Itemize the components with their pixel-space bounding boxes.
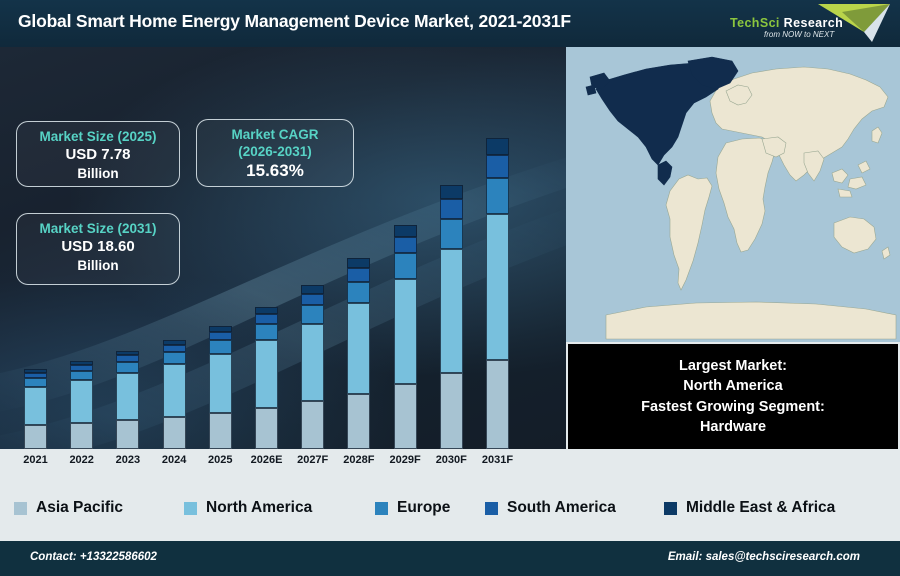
x-axis-label-2028F: 2028F [336,454,382,466]
bar-segment-middle-east-africa[interactable] [255,307,278,314]
bar-2023[interactable] [116,351,139,449]
x-axis-label-2021: 2021 [13,454,59,466]
bar-2024[interactable] [163,340,186,449]
bar-segment-south-america[interactable] [486,155,509,178]
legend-item-south-america[interactable]: South America [485,499,616,517]
bar-segment-middle-east-africa[interactable] [347,258,370,268]
footer-bar: Contact: +13322586602 Email: sales@techs… [0,541,900,576]
legend-swatch-icon [375,502,388,515]
bar-segment-europe[interactable] [163,352,186,364]
bar-segment-north-america[interactable] [255,340,278,408]
legend-label: South America [507,499,616,517]
legend-item-asia-pacific[interactable]: Asia Pacific [14,499,123,517]
bar-segment-asia-pacific[interactable] [301,401,324,449]
bar-2026E[interactable] [255,307,278,449]
bar-segment-south-america[interactable] [440,199,463,219]
bar-segment-asia-pacific[interactable] [70,423,93,449]
bar-segment-europe[interactable] [394,253,417,278]
bar-segment-north-america[interactable] [24,387,47,426]
bar-segment-asia-pacific[interactable] [347,394,370,449]
bar-segment-europe[interactable] [301,305,324,323]
page-title: Global Smart Home Energy Management Devi… [18,11,571,32]
legend-item-north-america[interactable]: North America [184,499,312,517]
legend-swatch-icon [664,502,677,515]
legend-swatch-icon [184,502,197,515]
techsci-logo: TechSci Research from NOW to NEXT [722,2,892,45]
fastest-segment-label: Fastest Growing Segment: [641,397,825,418]
legend-label: North America [206,499,312,517]
bar-segment-north-america[interactable] [163,364,186,416]
bar-segment-asia-pacific[interactable] [116,420,139,449]
bar-segment-north-america[interactable] [440,249,463,373]
bar-segment-asia-pacific[interactable] [163,417,186,449]
bar-segment-asia-pacific[interactable] [24,425,47,449]
bar-segment-asia-pacific[interactable] [486,360,509,449]
x-axis-label-2027F: 2027F [290,454,336,466]
bar-segment-north-america[interactable] [394,279,417,385]
bar-2029F[interactable] [394,225,417,449]
bar-segment-europe[interactable] [209,340,232,354]
bar-2021[interactable] [24,369,47,449]
logo-tagline: from NOW to NEXT [764,30,834,39]
world-map-icon [566,47,900,342]
bar-segment-asia-pacific[interactable] [209,413,232,449]
header-bar: Global Smart Home Energy Management Devi… [0,0,900,47]
legend-swatch-icon [485,502,498,515]
bar-segment-north-america[interactable] [347,303,370,393]
bar-segment-middle-east-africa[interactable] [394,225,417,237]
bar-segment-asia-pacific[interactable] [255,408,278,449]
x-axis-label-2024: 2024 [151,454,197,466]
bar-segment-europe[interactable] [347,282,370,303]
legend-label: Europe [397,499,450,517]
bar-2028F[interactable] [347,258,370,449]
bar-segment-south-america[interactable] [347,268,370,282]
x-axis-label-2030F: 2030F [428,454,474,466]
contact-text: Contact: +13322586602 [30,551,157,563]
stacked-bar-chart [0,47,566,449]
largest-market-label: Largest Market: [679,356,787,377]
x-axis-label-2031F: 2031F [475,454,521,466]
x-axis-label-2023: 2023 [105,454,151,466]
bar-segment-asia-pacific[interactable] [440,373,463,449]
bar-segment-north-america[interactable] [70,380,93,423]
bar-segment-europe[interactable] [255,324,278,340]
bar-segment-south-america[interactable] [163,345,186,353]
bar-segment-middle-east-africa[interactable] [301,285,324,293]
legend-item-middle-east-africa[interactable]: Middle East & Africa [664,499,835,517]
bar-segment-europe[interactable] [24,378,47,387]
chart-panel: Market Size (2025) USD 7.78 Billion Mark… [0,47,566,449]
bar-segment-north-america[interactable] [116,373,139,420]
bar-segment-middle-east-africa[interactable] [440,185,463,199]
bar-segment-south-america[interactable] [116,355,139,362]
legend-label: Asia Pacific [36,499,123,517]
bar-segment-south-america[interactable] [301,294,324,306]
bar-segment-europe[interactable] [440,219,463,249]
x-axis-label-2029F: 2029F [382,454,428,466]
bar-segment-south-america[interactable] [255,314,278,324]
x-axis-label-2026E: 2026E [244,454,290,466]
bar-segment-europe[interactable] [70,371,93,381]
x-axis-label-2022: 2022 [59,454,105,466]
logo-brand-research: Research [780,16,843,30]
infographic-root: Global Smart Home Energy Management Devi… [0,0,900,576]
bar-segment-south-america[interactable] [209,332,232,341]
fastest-segment-value: Hardware [700,417,766,438]
world-map-panel [566,47,900,342]
bar-2022[interactable] [70,361,93,449]
bar-segment-asia-pacific[interactable] [394,384,417,449]
bar-segment-north-america[interactable] [301,324,324,402]
bar-segment-north-america[interactable] [209,354,232,413]
legend-label: Middle East & Africa [686,499,835,517]
bar-segment-middle-east-africa[interactable] [486,138,509,155]
bar-2031F[interactable] [486,138,509,449]
legend-item-europe[interactable]: Europe [375,499,450,517]
bar-segment-south-america[interactable] [394,237,417,253]
bar-2025[interactable] [209,326,232,449]
logo-wordmark: TechSci Research [730,16,843,30]
key-facts-panel: Largest Market: North America Fastest Gr… [568,344,898,449]
largest-market-value: North America [683,376,782,397]
x-axis-labels: 202120222023202420252026E2027F2028F2029F… [0,449,566,475]
bar-segment-europe[interactable] [116,362,139,373]
legend-swatch-icon [14,502,27,515]
chart-legend: Asia PacificNorth AmericaEuropeSouth Ame… [0,475,900,541]
email-text: Email: sales@techsciresearch.com [668,551,860,563]
logo-brand-techsci: TechSci [730,16,780,30]
x-axis-label-2025: 2025 [197,454,243,466]
bar-2030F[interactable] [440,185,463,449]
bar-segment-north-america[interactable] [486,214,509,360]
bar-segment-europe[interactable] [486,178,509,214]
bar-2027F[interactable] [301,285,324,449]
